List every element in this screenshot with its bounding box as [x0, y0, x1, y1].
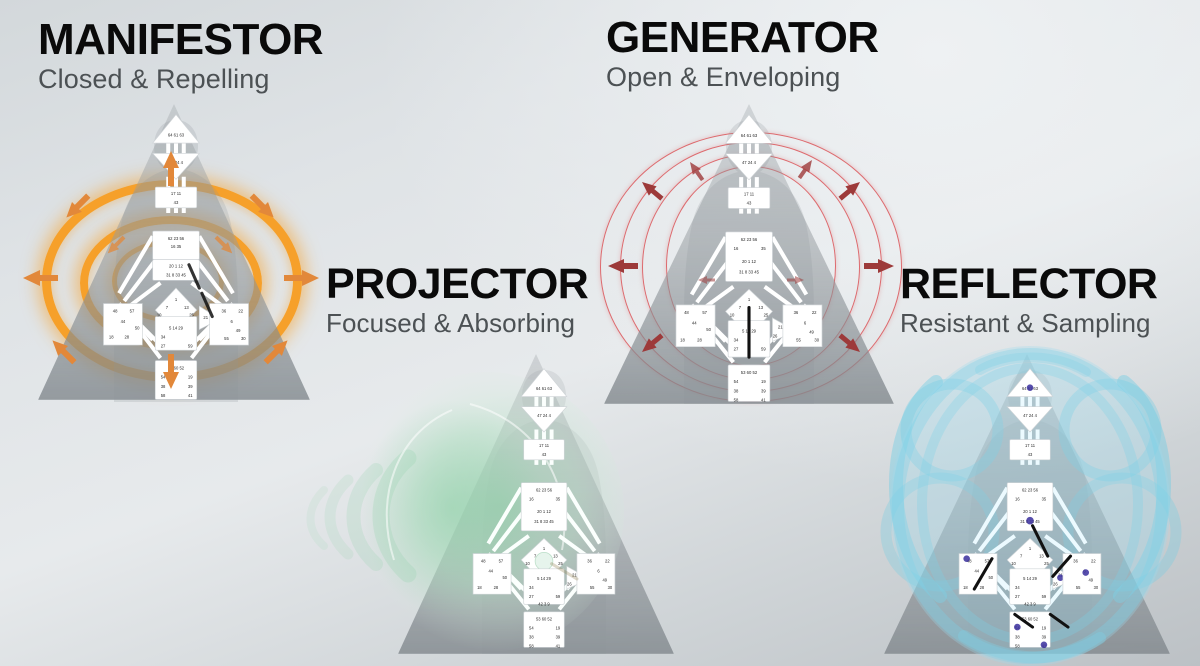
manifestor-heading: MANIFESTOR Closed & Repelling — [38, 18, 323, 94]
svg-text:49: 49 — [1089, 577, 1094, 582]
svg-text:42 3 9: 42 3 9 — [1024, 602, 1036, 607]
svg-text:59: 59 — [556, 594, 561, 599]
svg-text:34: 34 — [1015, 585, 1020, 590]
svg-text:36: 36 — [1073, 558, 1078, 563]
svg-text:22: 22 — [605, 558, 610, 563]
quadrant-reflector: 64 61 63 47 24 4 17 11 43 62 23 56 1635 … — [860, 250, 1200, 666]
svg-text:26: 26 — [1053, 581, 1058, 586]
svg-text:62 23 56: 62 23 56 — [1022, 488, 1039, 493]
svg-text:42 3 9: 42 3 9 — [538, 602, 550, 607]
reflector-heading: REFLECTOR Resistant & Sampling — [900, 262, 1158, 338]
reflector-title: REFLECTOR — [900, 262, 1158, 306]
svg-text:39: 39 — [556, 634, 561, 639]
svg-text:47 24 4: 47 24 4 — [537, 413, 551, 418]
svg-text:62 23 56: 62 23 56 — [536, 488, 553, 493]
svg-text:19: 19 — [556, 626, 561, 631]
svg-text:26: 26 — [567, 581, 572, 586]
svg-text:36: 36 — [587, 558, 592, 563]
svg-text:38: 38 — [529, 634, 534, 639]
svg-text:20 1 12: 20 1 12 — [537, 509, 551, 514]
svg-text:28: 28 — [980, 585, 985, 590]
svg-text:30: 30 — [608, 585, 613, 590]
svg-text:43: 43 — [1028, 452, 1033, 457]
generator-heading: GENERATOR Open & Enveloping — [606, 16, 879, 92]
svg-text:5 14 29: 5 14 29 — [1023, 576, 1037, 581]
svg-text:27: 27 — [1015, 594, 1020, 599]
projector-heading: PROJECTOR Focused & Absorbing — [326, 262, 588, 338]
svg-text:59: 59 — [1042, 594, 1047, 599]
svg-text:58: 58 — [1015, 643, 1020, 648]
svg-text:38: 38 — [1015, 634, 1020, 639]
svg-text:5 14 29: 5 14 29 — [537, 576, 551, 581]
reflector-bodygraph: 64 61 63 47 24 4 17 11 43 62 23 56 1635 … — [954, 362, 1106, 654]
svg-text:16: 16 — [1015, 496, 1020, 501]
svg-text:64 61 63: 64 61 63 — [536, 386, 553, 391]
svg-text:41: 41 — [556, 643, 561, 648]
svg-text:27: 27 — [529, 594, 534, 599]
svg-text:47 24 4: 47 24 4 — [1023, 413, 1037, 418]
projector-tagline: Focused & Absorbing — [326, 308, 588, 338]
svg-text:35: 35 — [556, 496, 561, 501]
svg-text:13: 13 — [553, 553, 558, 558]
svg-text:20 1 12: 20 1 12 — [1023, 509, 1037, 514]
svg-text:16: 16 — [529, 496, 534, 501]
svg-text:10: 10 — [525, 561, 530, 566]
svg-text:18: 18 — [963, 585, 968, 590]
svg-text:35: 35 — [1042, 496, 1047, 501]
manifestor-title: MANIFESTOR — [38, 18, 323, 62]
svg-text:39: 39 — [1042, 634, 1047, 639]
svg-text:53 60 52: 53 60 52 — [536, 617, 553, 622]
svg-text:31 8 33 45: 31 8 33 45 — [534, 519, 554, 524]
svg-text:57: 57 — [499, 558, 504, 563]
svg-text:55: 55 — [590, 585, 595, 590]
svg-text:30: 30 — [1094, 585, 1099, 590]
svg-text:48: 48 — [481, 558, 486, 563]
quadrant-manifestor: 64 61 63 47 24 4 17 11 43 62 23 56 16 35… — [0, 0, 360, 420]
reflector-tagline: Resistant & Sampling — [900, 308, 1158, 338]
svg-text:25: 25 — [558, 561, 563, 566]
svg-text:19: 19 — [1042, 626, 1047, 631]
svg-text:44: 44 — [975, 569, 980, 574]
human-design-aura-types-figure: 64 61 63 47 24 4 17 11 43 62 23 56 16 35… — [0, 0, 1200, 666]
svg-text:18: 18 — [477, 585, 482, 590]
svg-text:43: 43 — [542, 452, 547, 457]
svg-text:25: 25 — [1044, 561, 1049, 566]
svg-text:44: 44 — [489, 569, 494, 574]
generator-tagline: Open & Enveloping — [606, 62, 879, 92]
svg-text:58: 58 — [529, 643, 534, 648]
svg-text:22: 22 — [1091, 558, 1096, 563]
manifestor-outward-arrows — [20, 150, 320, 400]
svg-text:17 11: 17 11 — [539, 443, 550, 448]
svg-text:17 11: 17 11 — [1025, 443, 1036, 448]
manifestor-tagline: Closed & Repelling — [38, 64, 323, 94]
svg-text:50: 50 — [988, 575, 993, 580]
svg-text:64 61 63: 64 61 63 — [168, 133, 185, 138]
projector-title: PROJECTOR — [326, 262, 588, 306]
generator-inward-arrows — [586, 130, 916, 410]
svg-text:50: 50 — [502, 575, 507, 580]
svg-text:34: 34 — [529, 585, 534, 590]
svg-text:28: 28 — [494, 585, 499, 590]
generator-title: GENERATOR — [606, 16, 879, 60]
svg-text:13: 13 — [1039, 553, 1044, 558]
svg-text:10: 10 — [1011, 561, 1016, 566]
svg-text:49: 49 — [603, 577, 608, 582]
svg-text:55: 55 — [1076, 585, 1081, 590]
svg-text:54: 54 — [529, 626, 534, 631]
